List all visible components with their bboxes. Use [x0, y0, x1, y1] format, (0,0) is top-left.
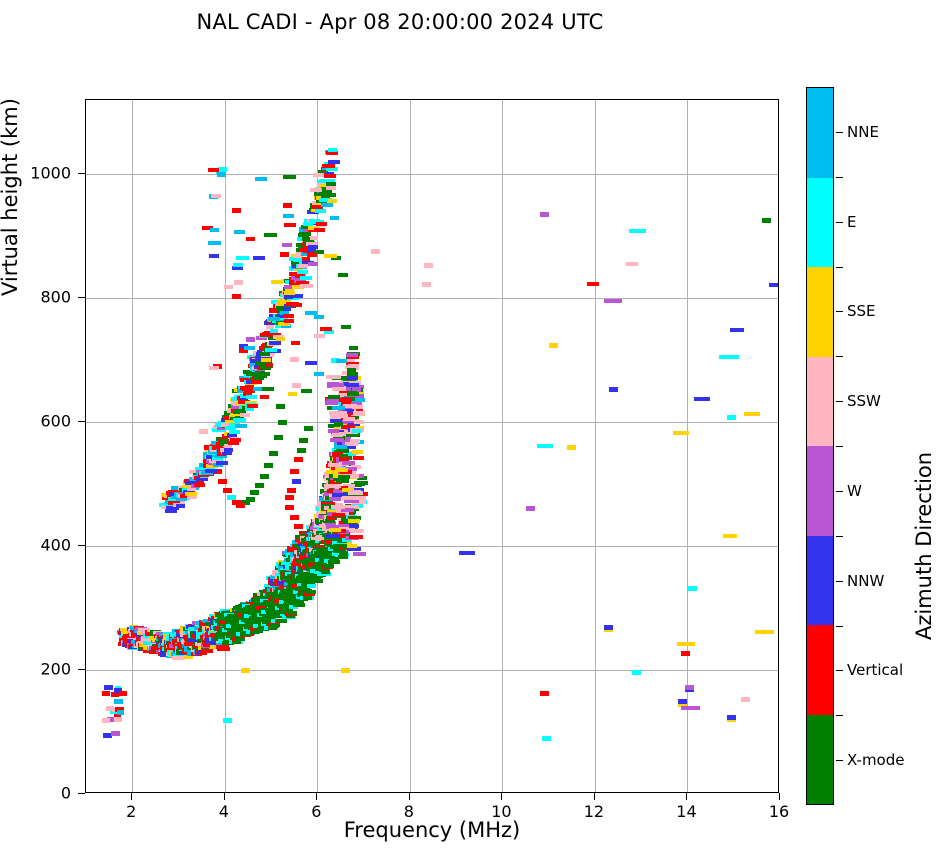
data-point [259, 372, 270, 376]
data-point [283, 307, 292, 311]
data-point [755, 630, 774, 634]
data-point [307, 253, 317, 257]
data-point [310, 188, 322, 192]
data-point [210, 228, 219, 232]
colorbar-boundary-tick [836, 715, 843, 716]
data-point [330, 375, 341, 379]
data-point [232, 500, 241, 505]
data-point [341, 508, 353, 512]
data-point [255, 177, 267, 181]
data-point [347, 391, 357, 395]
colorbar-tick-mark [836, 311, 843, 312]
x-tick-mark [131, 793, 132, 800]
data-point [104, 685, 113, 690]
data-point [275, 619, 287, 623]
data-point [349, 346, 358, 350]
data-point [311, 579, 323, 583]
data-point [290, 357, 299, 362]
data-point [549, 343, 558, 348]
data-point [264, 463, 273, 468]
data-point [209, 254, 219, 258]
data-point [348, 519, 360, 523]
y-tick-label: 200 [23, 660, 71, 679]
data-point [677, 642, 695, 646]
y-tick-label: 0 [23, 784, 71, 803]
y-axis-label: Virtual height (km) [0, 98, 22, 296]
data-point [211, 194, 221, 198]
data-point [276, 337, 285, 341]
data-point [303, 596, 312, 600]
data-point [299, 438, 308, 443]
data-point [632, 670, 641, 675]
data-point [303, 222, 314, 226]
data-point [334, 445, 347, 449]
data-point [681, 651, 690, 656]
data-point [223, 718, 232, 723]
data-point [285, 505, 294, 510]
data-point [459, 551, 475, 555]
data-point [422, 282, 431, 287]
page-title: NAL CADI - Apr 08 20:00:00 2024 UTC [0, 10, 800, 34]
data-point [283, 175, 296, 179]
data-point [331, 505, 345, 509]
data-point [283, 203, 292, 208]
data-point [330, 438, 344, 442]
data-point [609, 387, 618, 392]
data-point [269, 451, 278, 456]
data-point [321, 570, 330, 574]
data-point [604, 625, 613, 630]
data-point [325, 534, 340, 538]
data-point [328, 429, 339, 433]
data-point [284, 223, 297, 227]
colorbar-segment-x-mode[interactable] [807, 715, 833, 805]
y-tick-label: 400 [23, 536, 71, 555]
data-point [305, 311, 318, 315]
colorbar-tick-mark [836, 581, 843, 582]
data-point [329, 484, 341, 488]
colorbar-segment-nne[interactable] [807, 88, 833, 178]
data-point [324, 254, 337, 258]
data-point [321, 203, 333, 207]
colorbar-segment-nnw[interactable] [807, 536, 833, 626]
y-tick-mark [78, 173, 85, 174]
data-point [269, 341, 281, 345]
data-point [234, 280, 243, 285]
data-point [201, 649, 212, 653]
data-point [349, 535, 363, 539]
data-point [290, 515, 299, 520]
data-point [328, 148, 337, 152]
data-point [300, 276, 312, 280]
data-point [284, 319, 295, 323]
data-point [537, 444, 553, 448]
colorbar-label-nnw: NNW [847, 572, 884, 590]
data-point [299, 232, 311, 236]
data-point [673, 431, 688, 435]
data-point [285, 495, 294, 500]
data-point [305, 361, 317, 365]
colorbar-segment-ssw[interactable] [807, 357, 833, 447]
data-point [262, 387, 274, 391]
data-point [217, 647, 230, 651]
colorbar-boundary-tick [836, 446, 843, 447]
x-tick-mark [224, 793, 225, 800]
plot-area[interactable] [85, 99, 779, 793]
data-point [291, 341, 300, 345]
data-point [694, 397, 711, 401]
data-point [719, 355, 738, 359]
data-point [217, 172, 226, 177]
data-point [354, 420, 365, 424]
data-point [232, 208, 241, 213]
data-point [762, 218, 771, 223]
data-point [240, 413, 250, 417]
data-point [336, 359, 347, 363]
data-point [232, 294, 241, 299]
y-tick-mark [78, 297, 85, 298]
data-point [246, 237, 256, 241]
data-point [604, 299, 622, 303]
colorbar-boundary-tick [836, 177, 843, 178]
colorbar-tick-mark [836, 401, 843, 402]
data-point [297, 448, 306, 453]
data-point [287, 488, 296, 493]
data-point [338, 273, 347, 277]
data-point [208, 168, 219, 172]
colorbar-segment-e[interactable] [807, 178, 833, 268]
data-point [276, 404, 285, 409]
data-point [347, 544, 357, 548]
data-point [293, 603, 305, 607]
data-point [253, 256, 265, 260]
data-point [234, 230, 245, 234]
data-point [769, 283, 779, 287]
y-tick-mark [78, 793, 85, 794]
data-point [227, 495, 236, 500]
data-point [278, 420, 287, 425]
data-point [224, 285, 233, 289]
data-point [328, 199, 337, 203]
data-point [280, 252, 289, 257]
data-point [685, 685, 694, 690]
data-point [342, 496, 351, 500]
data-point [260, 333, 272, 337]
data-point [246, 395, 257, 399]
data-point [540, 212, 549, 217]
data-point [270, 624, 279, 628]
data-point [567, 445, 576, 450]
colorbar-label-sse: SSE [847, 302, 876, 320]
data-point [244, 346, 255, 350]
data-point [320, 327, 332, 331]
data-point [205, 469, 217, 473]
data-point [338, 475, 350, 479]
data-point [346, 383, 358, 387]
data-point [268, 317, 280, 321]
data-point [727, 415, 736, 420]
data-point [250, 490, 259, 495]
data-point [302, 257, 310, 261]
data-point [288, 392, 297, 396]
data-point [300, 284, 313, 288]
data-point [288, 611, 297, 615]
data-point [229, 430, 240, 434]
data-point [308, 262, 318, 266]
data-point [307, 584, 316, 588]
data-point [111, 731, 120, 736]
data-point [352, 450, 363, 454]
colorbar-label-w: W [847, 482, 862, 500]
data-point [233, 418, 246, 422]
colorbar-segment-sse[interactable] [807, 267, 833, 357]
data-point [230, 438, 241, 442]
data-point [114, 699, 123, 704]
data-point [424, 263, 433, 268]
x-tick-mark [316, 793, 317, 800]
data-point [102, 691, 110, 696]
x-tick-mark [501, 793, 502, 800]
data-point [332, 387, 346, 391]
data-point [347, 547, 361, 551]
data-point [349, 490, 361, 494]
data-point [294, 524, 303, 529]
data-point [341, 325, 351, 329]
data-point [283, 214, 295, 218]
y-tick-label: 1000 [23, 164, 71, 183]
data-point [347, 372, 358, 376]
data-point [326, 399, 339, 403]
data-point [352, 429, 362, 433]
x-tick-mark [686, 793, 687, 800]
data-point [278, 322, 291, 326]
data-point [338, 555, 348, 559]
y-tick-label: 800 [23, 288, 71, 307]
data-point [353, 552, 366, 556]
data-point [313, 173, 324, 177]
data-point [626, 262, 639, 266]
data-point [727, 715, 736, 720]
data-point [283, 314, 294, 318]
data-point [106, 706, 114, 711]
colorbar-tick-mark [836, 760, 843, 761]
data-point [216, 461, 228, 465]
data-point [741, 697, 750, 702]
data-point [308, 245, 317, 249]
data-point [339, 398, 352, 402]
data-point [334, 422, 343, 426]
data-point [335, 414, 348, 418]
colorbar-boundary-tick [836, 626, 843, 627]
data-point [315, 209, 326, 213]
colorbar-boundary-tick [836, 267, 843, 268]
data-point [325, 519, 336, 523]
data-point [199, 429, 208, 434]
data-point [329, 497, 341, 501]
data-point [322, 164, 335, 168]
data-point [329, 528, 342, 532]
colorbar-tick-mark [836, 132, 843, 133]
colorbar-label-ssw: SSW [847, 392, 881, 410]
data-point [347, 376, 358, 380]
data-point [330, 216, 340, 220]
data-point [218, 479, 227, 484]
data-point [185, 492, 198, 496]
data-point [336, 468, 348, 472]
data-point [730, 328, 744, 332]
colorbar-boundary-tick [836, 356, 843, 357]
data-point [306, 590, 315, 594]
data-point [235, 424, 247, 428]
data-point [208, 241, 221, 245]
y-tick-label: 600 [23, 412, 71, 431]
data-point [176, 504, 185, 508]
data-point [526, 506, 535, 511]
data-point [246, 337, 255, 342]
data-point [678, 699, 687, 704]
data-point [260, 474, 269, 479]
data-point [301, 389, 312, 393]
data-point [681, 706, 700, 710]
data-point [271, 280, 284, 284]
data-point [260, 395, 270, 399]
x-tick-mark [594, 793, 595, 800]
data-point [298, 264, 308, 268]
colorbar-tick-mark [836, 222, 843, 223]
data-point [194, 483, 205, 487]
data-point [371, 249, 380, 254]
data-point [342, 461, 355, 465]
data-point [241, 668, 250, 673]
colorbar-label-x-mode: X-mode [847, 751, 904, 769]
data-point [102, 718, 110, 723]
data-point [294, 457, 303, 462]
data-point [252, 380, 262, 384]
colorbar-segment-w[interactable] [807, 446, 833, 536]
colorbar-segment-vertical[interactable] [807, 625, 833, 715]
data-point [334, 411, 347, 415]
data-point [187, 487, 196, 491]
data-point [346, 353, 358, 357]
data-point [233, 263, 243, 267]
data-point [332, 406, 345, 410]
data-point [236, 256, 249, 260]
data-point [723, 534, 737, 538]
data-point [314, 315, 324, 319]
data-point [339, 457, 349, 461]
x-tick-mark [409, 793, 410, 800]
data-point [542, 736, 551, 741]
data-point [314, 334, 325, 338]
data-point [247, 404, 258, 408]
data-point [314, 228, 325, 232]
data-point [324, 174, 336, 178]
data-point [290, 469, 299, 474]
colorbar-label-vertical: Vertical [847, 661, 903, 679]
data-point [351, 529, 364, 533]
ionogram-figure: NAL CADI - Apr 08 20:00:00 2024 UTC 0200… [0, 0, 951, 856]
data-point [265, 363, 273, 367]
colorbar-boundary-tick [836, 536, 843, 537]
data-point [114, 717, 122, 722]
data-point [352, 496, 366, 500]
data-point [260, 352, 270, 356]
data-point [223, 488, 232, 493]
data-point [119, 691, 127, 696]
data-point [261, 358, 270, 362]
data-point [292, 383, 301, 388]
data-point [352, 405, 362, 409]
colorbar-label-e: E [847, 213, 856, 231]
data-point [297, 270, 308, 274]
data-point [235, 637, 244, 641]
data-point [325, 193, 336, 197]
data-point [224, 448, 233, 452]
data-point [292, 303, 302, 307]
x-axis-label: Frequency (MHz) [85, 818, 779, 842]
colorbar-tick-mark [836, 491, 843, 492]
data-point [274, 435, 283, 440]
data-point [332, 513, 345, 517]
data-point [328, 560, 340, 564]
data-point [292, 479, 301, 484]
data-point [255, 483, 264, 488]
data-point [355, 481, 368, 485]
data-point [326, 186, 336, 190]
data-point [540, 691, 549, 696]
data-layer [86, 100, 778, 792]
data-point [316, 222, 327, 226]
y-tick-mark [78, 669, 85, 670]
data-point [117, 710, 124, 715]
data-point [328, 463, 342, 467]
data-point [282, 243, 292, 247]
y-tick-mark [78, 545, 85, 546]
data-point [353, 411, 365, 415]
colorbar-title: Azimuth Direction [912, 452, 936, 640]
data-point [304, 426, 313, 431]
x-tick-mark [779, 793, 780, 800]
colorbar[interactable] [806, 87, 834, 805]
data-point [341, 668, 350, 673]
data-point [264, 233, 277, 237]
data-point [688, 586, 697, 591]
data-point [629, 229, 646, 233]
data-point [587, 282, 600, 286]
data-point [744, 412, 761, 416]
colorbar-tick-mark [836, 670, 843, 671]
data-point [284, 291, 295, 295]
y-tick-mark [78, 421, 85, 422]
data-point [310, 236, 318, 240]
data-point [209, 366, 219, 370]
colorbar-label-nne: NNE [847, 123, 879, 141]
data-point [314, 372, 324, 376]
